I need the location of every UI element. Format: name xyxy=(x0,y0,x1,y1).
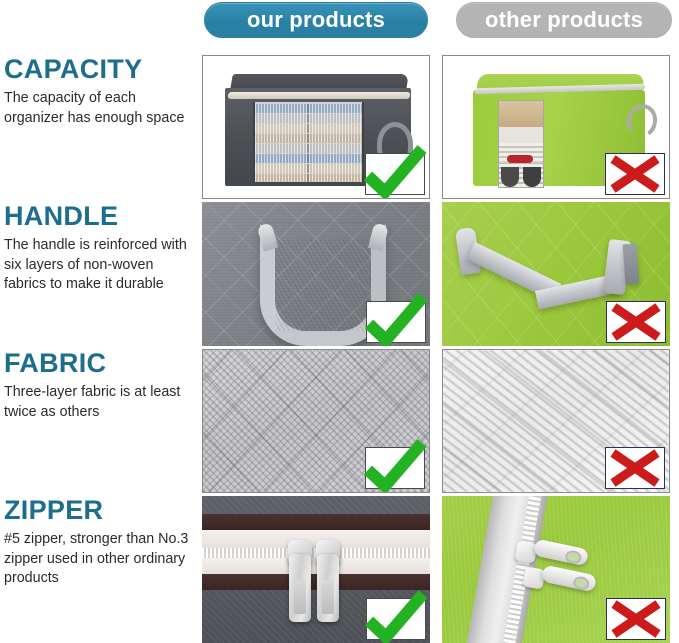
check-badge xyxy=(366,301,426,343)
feature-row-fabric: FABRIC Three-layer fabric is at least tw… xyxy=(0,349,679,493)
cross-badge xyxy=(605,447,665,489)
feature-description: The handle is reinforced with six layers… xyxy=(4,236,199,294)
check-icon xyxy=(358,144,430,199)
feature-row-handle: HANDLE The handle is reinforced with six… xyxy=(0,202,679,346)
check-icon xyxy=(358,438,430,493)
other-product-image-handle xyxy=(442,202,670,346)
check-icon xyxy=(359,589,430,643)
feature-description: The capacity of each organizer has enoug… xyxy=(4,89,199,128)
check-badge xyxy=(365,447,425,489)
feature-title: ZIPPER xyxy=(4,496,199,524)
zipper-trim-top xyxy=(202,514,430,530)
cross-icon xyxy=(609,601,663,637)
feature-row-capacity: CAPACITY The capacity of each organizer … xyxy=(0,55,679,199)
our-product-image-capacity xyxy=(202,55,430,199)
feature-text-fabric: FABRIC Three-layer fabric is at least tw… xyxy=(4,349,199,493)
our-product-image-handle xyxy=(202,202,430,346)
cross-icon xyxy=(608,450,662,486)
our-products-pill: our products xyxy=(204,2,428,38)
cross-badge xyxy=(606,598,666,640)
zipper-pull-right xyxy=(317,554,339,622)
feature-text-handle: HANDLE The handle is reinforced with six… xyxy=(4,202,199,346)
cross-badge xyxy=(605,153,665,195)
bag-zipper-line xyxy=(228,92,411,99)
comparison-header: our products other products xyxy=(0,0,679,48)
other-product-image-fabric xyxy=(442,349,670,493)
strap-weave-texture xyxy=(275,239,371,331)
our-product-image-zipper xyxy=(202,496,430,643)
feature-text-zipper: ZIPPER #5 zipper, stronger than No.3 zip… xyxy=(4,496,199,643)
check-badge xyxy=(366,598,426,640)
cross-badge xyxy=(606,301,666,343)
other-product-image-capacity xyxy=(442,55,670,199)
bag-clear-window xyxy=(498,100,544,188)
check-icon xyxy=(359,292,430,346)
our-products-label: our products xyxy=(247,7,385,33)
weak-handle-strap xyxy=(458,228,638,306)
other-products-pill: other products xyxy=(456,2,672,38)
other-product-image-zipper xyxy=(442,496,670,643)
feature-description: Three-layer fabric is at least twice as … xyxy=(4,383,199,422)
check-badge xyxy=(365,153,425,195)
feature-title: FABRIC xyxy=(4,349,199,377)
feature-row-zipper: ZIPPER #5 zipper, stronger than No.3 zip… xyxy=(0,496,679,643)
our-product-image-fabric xyxy=(202,349,430,493)
cross-icon xyxy=(609,304,663,340)
feature-description: #5 zipper, stronger than No.3 zipper use… xyxy=(4,530,199,588)
bag-clear-window xyxy=(253,102,364,182)
zipper-pull-left xyxy=(289,554,311,622)
zipper-trim-bottom xyxy=(202,574,430,590)
feature-title: CAPACITY xyxy=(4,55,199,83)
feature-text-capacity: CAPACITY The capacity of each organizer … xyxy=(4,55,199,199)
cross-icon xyxy=(608,156,662,192)
feature-title: HANDLE xyxy=(4,202,199,230)
other-products-label: other products xyxy=(485,7,643,33)
